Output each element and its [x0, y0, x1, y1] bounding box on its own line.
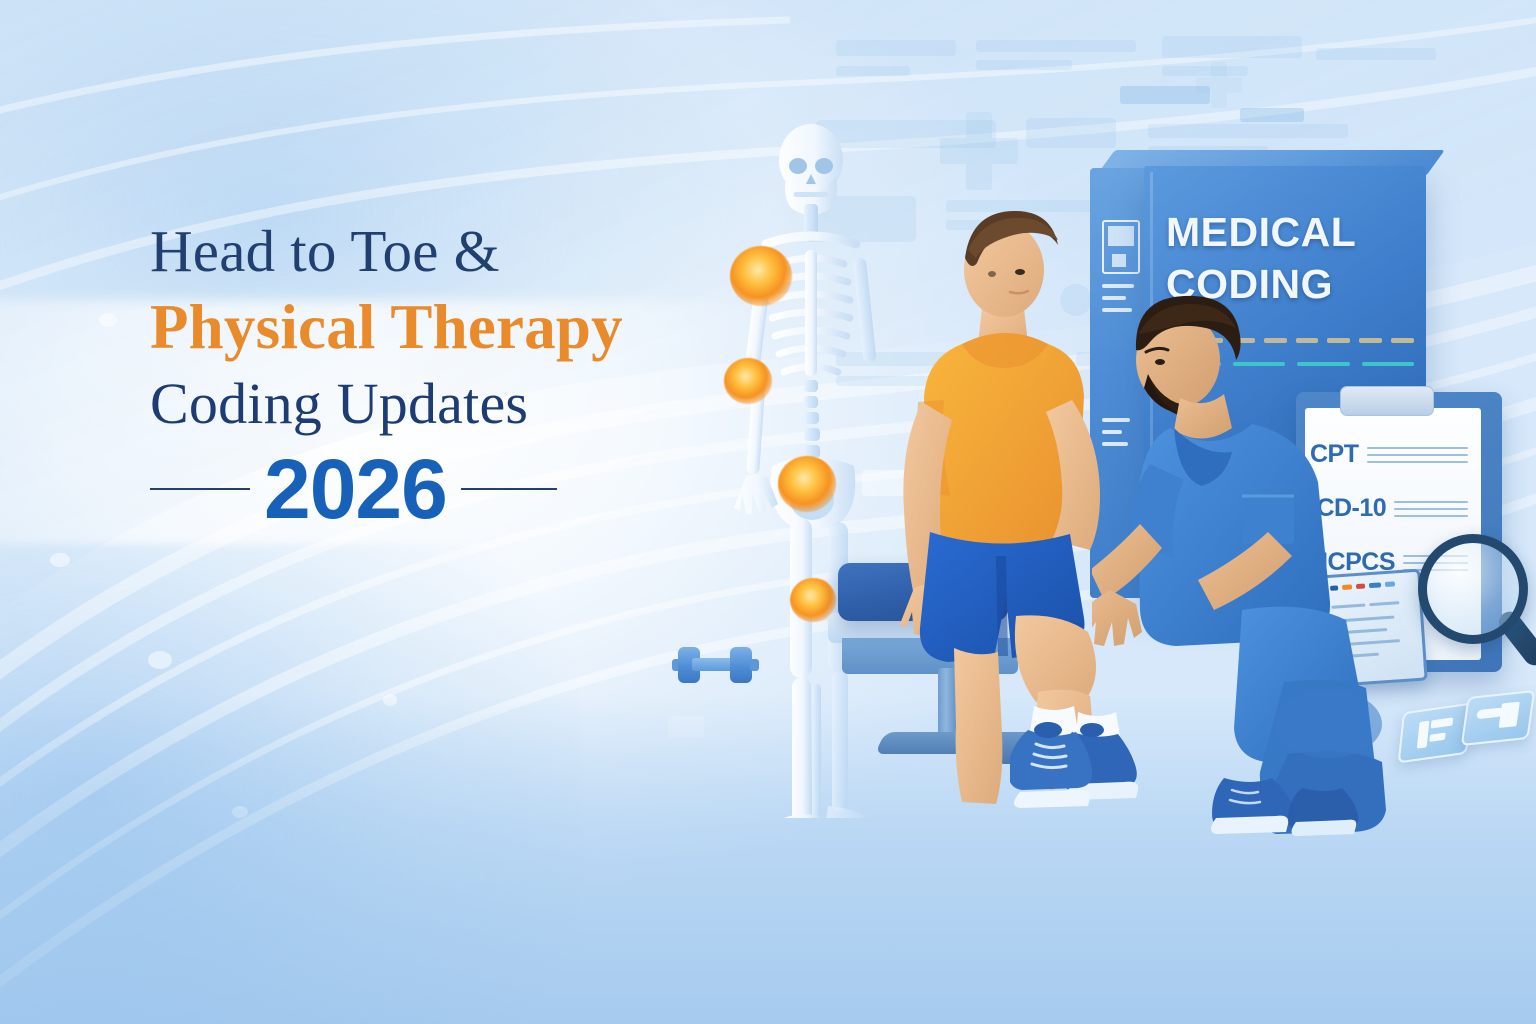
glow-joint-hip-icon — [778, 456, 836, 512]
year-label: 2026 — [264, 445, 447, 533]
magnifying-glass-icon — [1418, 534, 1536, 684]
banner-canvas: Head to Toe & Physical Therapy Coding Up… — [0, 0, 1536, 1024]
glow-joint-elbow-icon — [724, 358, 772, 404]
magnifier-lens — [1418, 534, 1528, 644]
book-title-line-1: MEDICAL — [1166, 206, 1416, 258]
dumbbell-icon — [672, 645, 758, 685]
headline-line-2: Physical Therapy — [150, 287, 720, 367]
therapist-footwear — [1210, 752, 1390, 842]
headline-line-1: Head to Toe & — [150, 215, 720, 287]
glow-joint-shoulder-icon — [730, 246, 792, 306]
year-row: 2026 — [150, 445, 720, 533]
divider-left — [150, 488, 250, 490]
medical-cross-watermark — [940, 112, 1018, 190]
headline-block: Head to Toe & Physical Therapy Coding Up… — [150, 215, 720, 533]
divider-right — [461, 488, 557, 490]
headline-line-3: Coding Updates — [150, 367, 720, 441]
background-ghost-block — [1120, 86, 1210, 104]
background-ghost-block — [1240, 108, 1304, 122]
floor-card-right — [1461, 690, 1536, 746]
